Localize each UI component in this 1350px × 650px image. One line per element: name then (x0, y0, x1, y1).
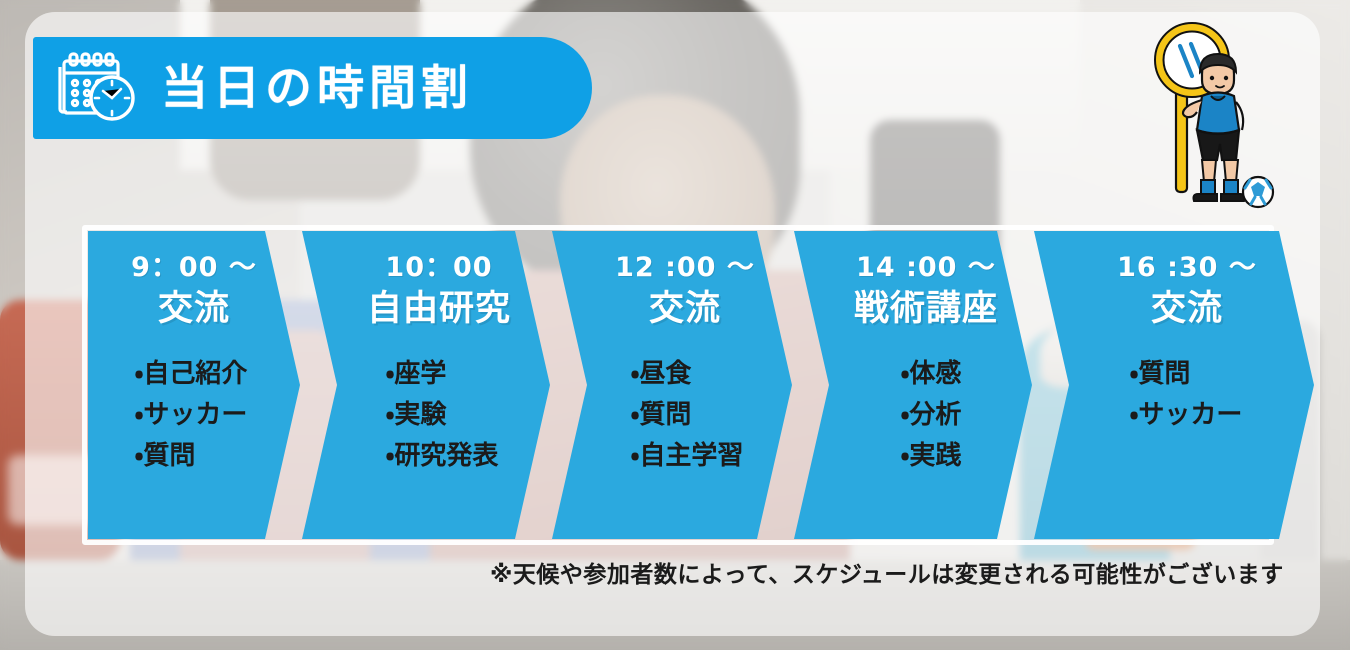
title-banner: 当日の時間割 (33, 37, 592, 139)
block-time: 12 :00 ～ (615, 253, 755, 283)
list-item: ・質問 (631, 398, 692, 433)
block-heading: 交流 (158, 289, 230, 329)
list-item: ・質問 (1130, 357, 1191, 392)
block-heading: 交流 (1151, 289, 1223, 329)
block-item-list: ・昼食 ・質問 ・自主学習 (631, 357, 744, 474)
mascot-illustration (1150, 20, 1280, 220)
block-time: 16 :30 ～ (1117, 253, 1257, 283)
calendar-clock-icon (55, 51, 139, 125)
list-item: ・体感 (901, 357, 962, 392)
block-item-list: ・自己紹介 ・サッカー ・質問 (135, 357, 248, 474)
block-heading: 自由研究 (367, 289, 511, 329)
list-item: ・サッカー (135, 398, 248, 433)
block-item-list: ・体感 ・分析 ・実践 (901, 357, 962, 474)
schedule-block-1[interactable]: 9：00 ～ 交流 ・自己紹介 ・サッカー ・質問 (88, 231, 300, 539)
footnote-text: ※天候や参加者数によって、スケジュールは変更される可能性がございます (490, 555, 1284, 589)
schedule-block-4[interactable]: 14 :00 ～ 戦術講座 ・体感 ・分析 ・実践 (794, 231, 1032, 539)
schedule-block-2[interactable]: 10：00 自由研究 ・座学 ・実験 ・研究発表 (302, 231, 550, 539)
list-item: ・昼食 (631, 357, 692, 392)
list-item: ・自己紹介 (135, 357, 248, 392)
page-title: 当日の時間割 (161, 65, 473, 112)
block-time: 14 :00 ～ (856, 253, 996, 283)
block-heading: 戦術講座 (854, 289, 998, 329)
list-item: ・実践 (901, 439, 962, 474)
block-time: 10：00 (385, 253, 492, 283)
block-time: 9：00 ～ (131, 253, 257, 283)
list-item: ・質問 (135, 439, 196, 474)
list-item: ・自主学習 (631, 439, 744, 474)
schedule-block-5[interactable]: 16 :30 ～ 交流 ・質問 ・サッカー (1034, 231, 1314, 539)
schedule-block-3[interactable]: 12 :00 ～ 交流 ・昼食 ・質問 ・自主学習 (552, 231, 792, 539)
list-item: ・座学 (386, 357, 447, 392)
schedule-strip: 9：00 ～ 交流 ・自己紹介 ・サッカー ・質問 10：00 自由研究 ・座学… (88, 231, 1268, 539)
block-item-list: ・質問 ・サッカー (1130, 357, 1243, 433)
list-item: ・サッカー (1130, 398, 1243, 433)
list-item: ・研究発表 (386, 439, 499, 474)
list-item: ・実験 (386, 398, 447, 433)
slide-canvas: 当日の時間割 (0, 0, 1350, 650)
list-item: ・分析 (901, 398, 962, 433)
block-heading: 交流 (649, 289, 721, 329)
block-item-list: ・座学 ・実験 ・研究発表 (386, 357, 499, 474)
